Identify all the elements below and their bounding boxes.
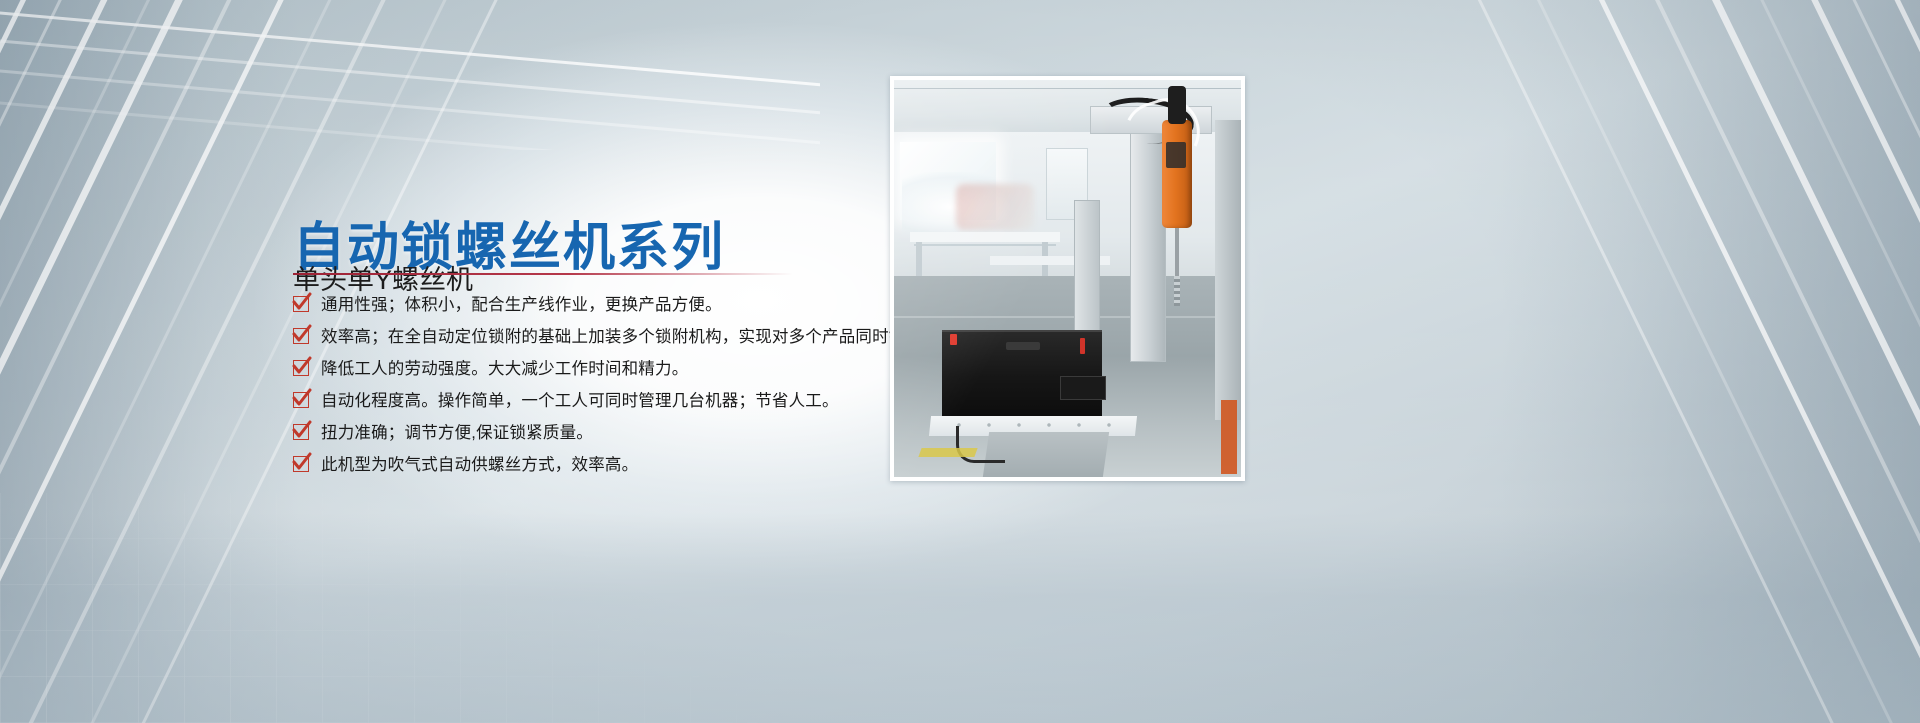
check-icon xyxy=(293,360,309,376)
check-icon xyxy=(293,424,309,440)
list-item: 效率高；在全自动定位锁附的基础上加装多个锁附机构，实现对多个产品同时锁附。 xyxy=(293,322,939,353)
title-divider xyxy=(293,273,793,275)
list-item: 此机型为吹气式自动供螺丝方式，效率高。 xyxy=(293,450,939,481)
list-item: 自动化程度高。操作简单，一个工人可同时管理几台机器；节省人工。 xyxy=(293,386,939,417)
list-item-label: 降低工人的劳动强度。大大减少工作时间和精力。 xyxy=(321,354,688,385)
product-photo-frame xyxy=(890,76,1245,481)
feature-list: 通用性强；体积小，配合生产线作业，更换产品方便。 效率高；在全自动定位锁附的基础… xyxy=(293,290,939,481)
check-icon xyxy=(293,392,309,408)
list-item: 扭力准确；调节方便,保证锁紧质量。 xyxy=(293,418,939,449)
banner-content: 自动锁螺丝机系列 单头单Y螺丝机 通用性强；体积小，配合生产线作业，更换产品方便… xyxy=(0,0,1920,723)
list-item-label: 效率高；在全自动定位锁附的基础上加装多个锁附机构，实现对多个产品同时锁附。 xyxy=(321,322,939,353)
check-icon xyxy=(293,328,309,344)
photo-sheen xyxy=(894,80,1241,477)
hero-banner: 自动锁螺丝机系列 单头单Y螺丝机 通用性强；体积小，配合生产线作业，更换产品方便… xyxy=(0,0,1920,723)
check-icon xyxy=(293,296,309,312)
list-item: 通用性强；体积小，配合生产线作业，更换产品方便。 xyxy=(293,290,939,321)
list-item-label: 此机型为吹气式自动供螺丝方式，效率高。 xyxy=(321,450,638,481)
list-item-label: 通用性强；体积小，配合生产线作业，更换产品方便。 xyxy=(321,290,722,321)
list-item: 降低工人的劳动强度。大大减少工作时间和精力。 xyxy=(293,354,939,385)
product-photo xyxy=(894,80,1241,477)
list-item-label: 自动化程度高。操作简单，一个工人可同时管理几台机器；节省人工。 xyxy=(321,386,839,417)
check-icon xyxy=(293,456,309,472)
list-item-label: 扭力准确；调节方便,保证锁紧质量。 xyxy=(321,418,593,449)
